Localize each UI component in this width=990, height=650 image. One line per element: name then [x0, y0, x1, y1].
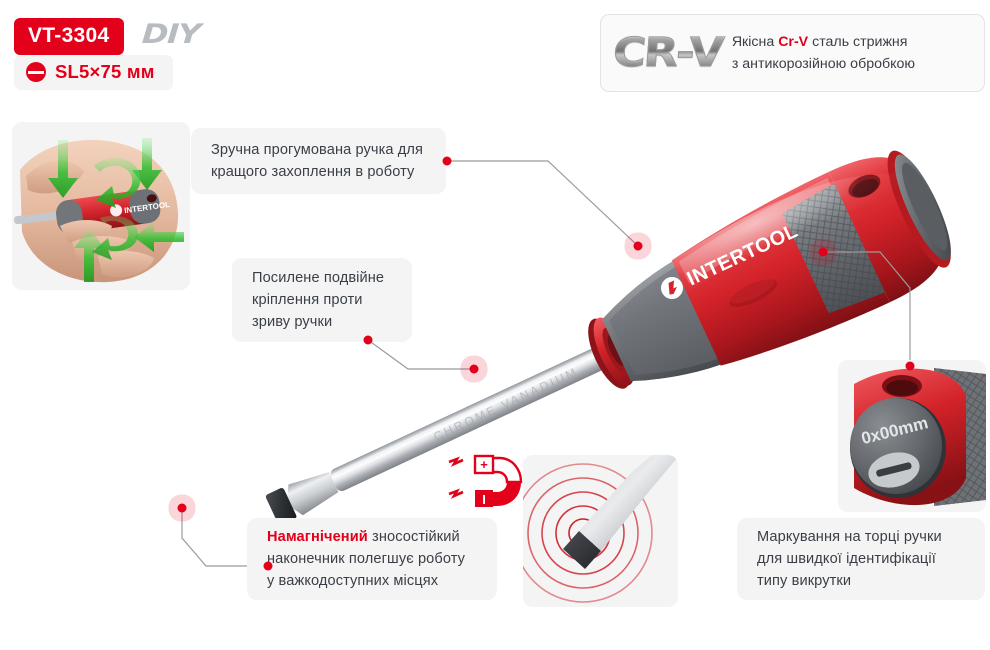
- dot-handle-grip: [634, 242, 643, 251]
- connector-dot-layer: [0, 0, 990, 650]
- dot-end-cap: [819, 248, 828, 257]
- dot-callout-grip: [443, 157, 452, 166]
- dot-cap-inset: [906, 362, 915, 371]
- dot-ferrule-mount: [470, 365, 479, 374]
- dot-callout-mount: [364, 336, 373, 345]
- infographic-canvas: VT-3304 DIY SL5×75 мм CR-V Якісна Cr-V с…: [0, 0, 990, 650]
- dot-blade-tip: [178, 504, 187, 513]
- dot-callout-magnet: [264, 562, 273, 571]
